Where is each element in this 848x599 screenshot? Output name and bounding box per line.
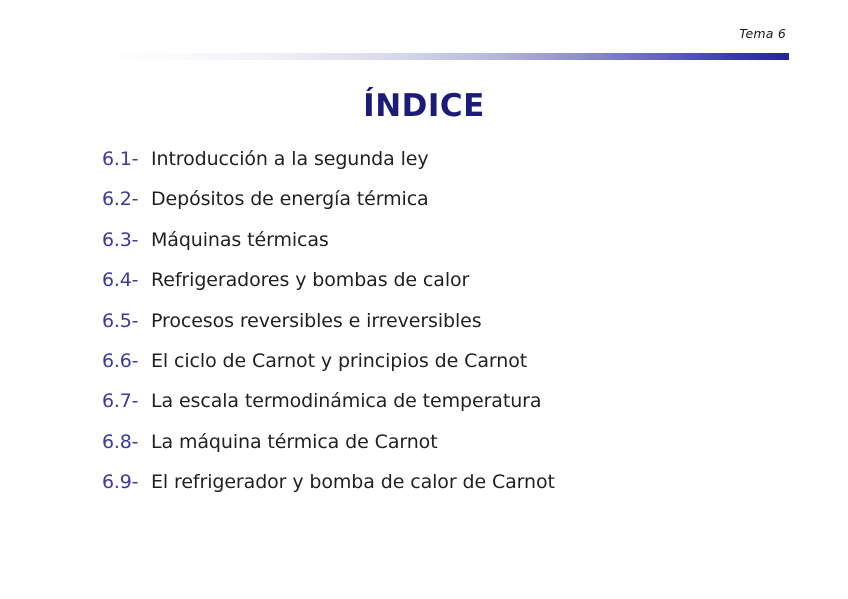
- list-item[interactable]: 6.9- El refrigerador y bomba de calor de…: [102, 462, 802, 502]
- list-item-label: La escala termodinámica de temperatura: [151, 381, 541, 421]
- list-item[interactable]: 6.2- Depósitos de energía térmica: [102, 179, 802, 219]
- list-item-label: El refrigerador y bomba de calor de Carn…: [151, 462, 555, 502]
- list-item-label: Procesos reversibles e irreversibles: [151, 301, 482, 341]
- list-item-number: 6.4-: [102, 260, 151, 300]
- list-item-number: 6.6-: [102, 341, 151, 381]
- slide-canvas: Tema 6 ÍNDICE 6.1- Introducción a la seg…: [0, 0, 848, 599]
- list-item-label: Refrigeradores y bombas de calor: [151, 260, 469, 300]
- list-item[interactable]: 6.7- La escala termodinámica de temperat…: [102, 381, 802, 421]
- list-item-number: 6.9-: [102, 462, 151, 502]
- index-list: 6.1- Introducción a la segunda ley 6.2- …: [102, 139, 802, 503]
- list-item-number: 6.1-: [102, 139, 151, 179]
- list-item[interactable]: 6.8- La máquina térmica de Carnot: [102, 422, 802, 462]
- list-item-number: 6.8-: [102, 422, 151, 462]
- list-item-number: 6.7-: [102, 381, 151, 421]
- list-item-number: 6.3-: [102, 220, 151, 260]
- list-item-label: Máquinas térmicas: [151, 220, 329, 260]
- header-gradient-rule: [90, 53, 789, 60]
- list-item-label: Depósitos de energía térmica: [151, 179, 429, 219]
- list-item-number: 6.2-: [102, 179, 151, 219]
- list-item-label: Introducción a la segunda ley: [151, 139, 429, 179]
- header-topic-label: Tema 6: [739, 26, 786, 42]
- list-item-label: El ciclo de Carnot y principios de Carno…: [151, 341, 527, 381]
- page-title: ÍNDICE: [0, 88, 848, 124]
- list-item[interactable]: 6.1- Introducción a la segunda ley: [102, 139, 802, 179]
- list-item-number: 6.5-: [102, 301, 151, 341]
- list-item[interactable]: 6.4- Refrigeradores y bombas de calor: [102, 260, 802, 300]
- list-item-label: La máquina térmica de Carnot: [151, 422, 438, 462]
- list-item[interactable]: 6.6- El ciclo de Carnot y principios de …: [102, 341, 802, 381]
- list-item[interactable]: 6.5- Procesos reversibles e irreversible…: [102, 301, 802, 341]
- list-item[interactable]: 6.3- Máquinas térmicas: [102, 220, 802, 260]
